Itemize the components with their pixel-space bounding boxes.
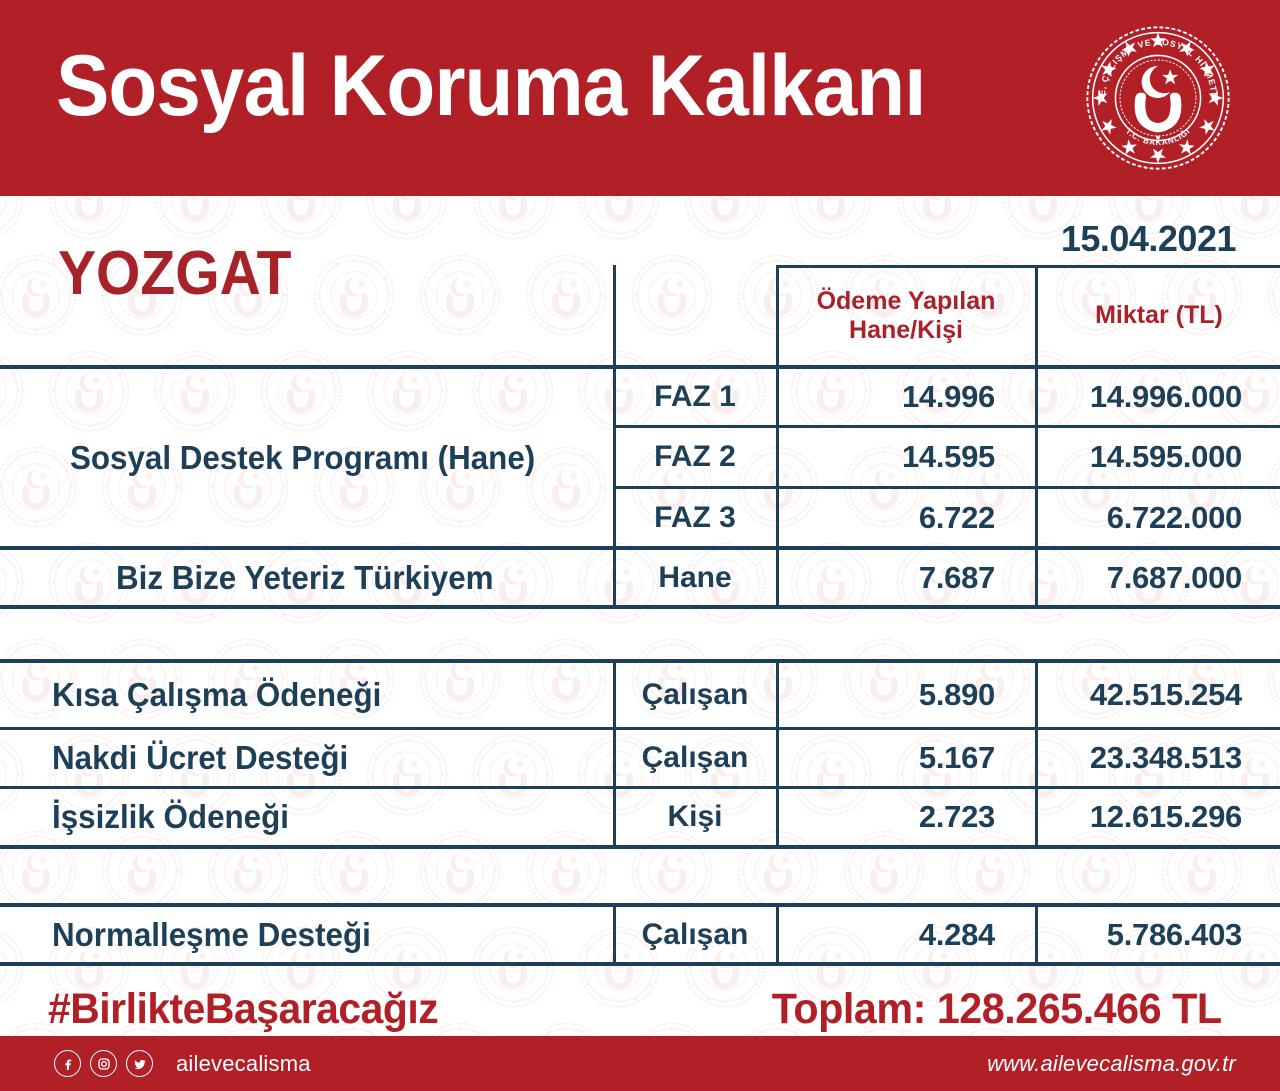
table-row-bizbize-type: Hane bbox=[616, 550, 774, 605]
social-handle[interactable]: ailevecalisma bbox=[176, 1051, 311, 1077]
table-row-nakdi-ucret-label: Nakdi Ücret Desteği bbox=[52, 730, 610, 786]
rule-s2-bottom bbox=[0, 845, 1280, 849]
table-row-faz3-type: FAZ 3 bbox=[616, 489, 774, 546]
faz1-type-text: FAZ 1 bbox=[654, 380, 736, 414]
instagram-icon[interactable] bbox=[90, 1050, 117, 1077]
kisa-calisma-amount-text: 42.515.254 bbox=[1090, 677, 1242, 713]
rule-s1-bottom bbox=[0, 605, 1280, 609]
report-date: 15.04.2021 bbox=[1061, 218, 1236, 260]
top-banner: Sosyal Koruma Kalkanı bbox=[0, 0, 1280, 196]
table-row-faz2-amount: 14.595.000 bbox=[1038, 428, 1242, 486]
twitter-icon[interactable] bbox=[126, 1050, 153, 1077]
kisa-calisma-label-text: Kısa Çalışma Ödeneği bbox=[52, 676, 381, 714]
table-row-issizlik-label: İşsizlik Ödeneği bbox=[52, 789, 610, 845]
faz3-count-text: 6.722 bbox=[919, 500, 995, 536]
table-row-faz1-amount: 14.996.000 bbox=[1038, 369, 1242, 425]
facebook-icon[interactable] bbox=[54, 1050, 81, 1077]
faz3-type-text: FAZ 3 bbox=[654, 501, 736, 535]
table-row-normallesme-type: Çalışan bbox=[616, 907, 774, 962]
ministry-emblem-icon: AİLE, ÇALIŞMA VE SOSYAL HİZMETLER T.C. B… bbox=[1082, 22, 1234, 174]
table-row-nakdi-ucret-amount: 23.348.513 bbox=[1038, 730, 1242, 786]
bizbize-label-text: Biz Bize Yeteriz Türkiyem bbox=[116, 559, 494, 597]
table-row-bizbize-count: 7.687 bbox=[779, 550, 995, 605]
bizbize-count-text: 7.687 bbox=[919, 560, 995, 596]
col-header-count-line2: Hane/Kişi bbox=[849, 316, 963, 344]
table-row-faz1-count: 14.996 bbox=[779, 369, 995, 425]
table-row-issizlik-count: 2.723 bbox=[779, 789, 995, 845]
nakdi-ucret-amount-text: 23.348.513 bbox=[1090, 740, 1242, 776]
faz2-count-text: 14.595 bbox=[902, 439, 995, 475]
table-row-faz3-amount: 6.722.000 bbox=[1038, 489, 1242, 546]
faz2-type-text: FAZ 2 bbox=[654, 440, 736, 474]
normallesme-amount-text: 5.786.403 bbox=[1107, 917, 1242, 953]
table-row-normallesme-count: 4.284 bbox=[779, 907, 995, 962]
table-row-normallesme-amount: 5.786.403 bbox=[1038, 907, 1242, 962]
table-row-faz2-type: FAZ 2 bbox=[616, 428, 774, 486]
bizbize-type-text: Hane bbox=[658, 561, 731, 595]
table-row-kisa-calisma-amount: 42.515.254 bbox=[1038, 663, 1242, 727]
infographic-page: Sosyal Koruma Kalkanı bbox=[0, 0, 1280, 1091]
table-row-kisa-calisma-count: 5.890 bbox=[779, 663, 995, 727]
issizlik-label-text: İşsizlik Ödeneği bbox=[52, 798, 289, 836]
table-row-nakdi-ucret-type: Çalışan bbox=[616, 730, 774, 786]
col-header-amount-label: Miktar (TL) bbox=[1095, 301, 1223, 331]
kisa-calisma-count-text: 5.890 bbox=[919, 677, 995, 713]
col-header-count: Ödeme Yapılan Hane/Kişi bbox=[779, 268, 1033, 364]
normallesme-label-text: Normalleşme Desteği bbox=[52, 916, 371, 954]
table-row-issizlik-amount: 12.615.296 bbox=[1038, 789, 1242, 845]
nakdi-ucret-label-text: Nakdi Ücret Desteği bbox=[52, 739, 348, 777]
table-row-faz3-count: 6.722 bbox=[779, 489, 995, 546]
total-amount: Toplam: 128.265.466 TL bbox=[772, 985, 1222, 1034]
footer-bar: ailevecalisma www.ailevecalisma.gov.tr bbox=[0, 1036, 1280, 1091]
issizlik-count-text: 2.723 bbox=[919, 799, 995, 835]
table-row-normallesme-label: Normalleşme Desteği bbox=[52, 907, 610, 962]
faz3-amount-text: 6.722.000 bbox=[1107, 500, 1242, 536]
campaign-hashtag: #BirlikteBaşaracağız bbox=[48, 985, 438, 1034]
group-label-text: Sosyal Destek Programı (Hane) bbox=[70, 439, 535, 477]
social-links: ailevecalisma bbox=[54, 1050, 311, 1077]
normallesme-count-text: 4.284 bbox=[919, 917, 995, 953]
bizbize-amount-text: 7.687.000 bbox=[1107, 560, 1242, 596]
faz1-count-text: 14.996 bbox=[902, 379, 995, 415]
table-row-bizbize-amount: 7.687.000 bbox=[1038, 550, 1242, 605]
table-row-faz2-count: 14.595 bbox=[779, 428, 995, 486]
table-row-faz1-type: FAZ 1 bbox=[616, 369, 774, 425]
kisa-calisma-type-text: Çalışan bbox=[642, 678, 749, 712]
table-row-kisa-calisma-label: Kısa Çalışma Ödeneği bbox=[52, 663, 610, 727]
table-row-bizbize-label: Biz Bize Yeteriz Türkiyem bbox=[20, 550, 610, 605]
issizlik-type-text: Kişi bbox=[667, 800, 722, 834]
col-header-amount: Miktar (TL) bbox=[1038, 268, 1280, 364]
city-title: YOZGAT bbox=[58, 243, 291, 305]
faz1-amount-text: 14.996.000 bbox=[1090, 379, 1242, 415]
table-row-nakdi-ucret-count: 5.167 bbox=[779, 730, 995, 786]
normallesme-type-text: Çalışan bbox=[642, 918, 749, 952]
nakdi-ucret-count-text: 5.167 bbox=[919, 740, 995, 776]
table-row-kisa-calisma-type: Çalışan bbox=[616, 663, 774, 727]
page-title: Sosyal Koruma Kalkanı bbox=[56, 43, 925, 129]
row-group-label-social-support: Sosyal Destek Programı (Hane) bbox=[20, 369, 610, 546]
faz2-amount-text: 14.595.000 bbox=[1090, 439, 1242, 475]
rule-s3-bottom bbox=[0, 962, 1280, 966]
table-row-issizlik-type: Kişi bbox=[616, 789, 774, 845]
col-header-count-line1: Ödeme Yapılan bbox=[817, 287, 996, 315]
website-url[interactable]: www.ailevecalisma.gov.tr bbox=[987, 1051, 1236, 1077]
nakdi-ucret-type-text: Çalışan bbox=[642, 741, 749, 775]
issizlik-amount-text: 12.615.296 bbox=[1090, 799, 1242, 835]
